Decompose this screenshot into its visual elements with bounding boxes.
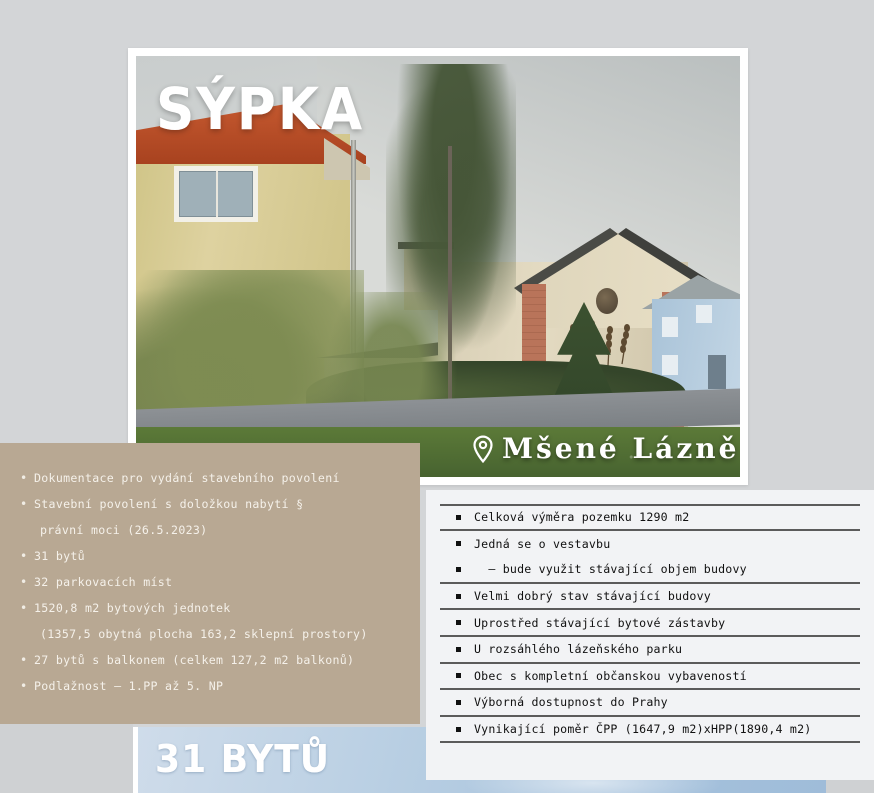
photo-card: SÝPKA Mšené Lázně: [128, 48, 748, 485]
blue-house-door: [708, 355, 726, 389]
feature-item: 31 bytů: [18, 543, 404, 569]
building-photo: SÝPKA Mšené Lázně: [136, 56, 740, 477]
feature-item: 1520,8 m2 bytových jednotek: [18, 595, 404, 621]
page-title: SÝPKA: [156, 80, 364, 138]
spec-item: – bude využit stávající objem budovy: [440, 557, 860, 584]
bottom-left-gutter: [0, 724, 133, 793]
spec-item: Velmi dobrý stav stávající budovy: [440, 584, 860, 611]
feature-item-continuation: (1357,5 obytná plocha 163,2 sklepní pros…: [18, 621, 404, 647]
spec-list: Celková výměra pozemku 1290 m2 Jedná se …: [440, 504, 860, 743]
blue-house-window: [662, 317, 678, 337]
spec-panel: Celková výměra pozemku 1290 m2 Jedná se …: [426, 490, 874, 780]
map-pin-icon: [472, 435, 494, 463]
features-list: Dokumentace pro vydání stavebního povole…: [18, 465, 404, 699]
bottom-right-gutter: [826, 780, 874, 793]
feature-item: Podlažnost – 1.PP až 5. NP: [18, 673, 404, 699]
features-panel: Dokumentace pro vydání stavebního povole…: [0, 443, 420, 724]
feature-item: Stavební povolení s doložkou nabytí §: [18, 491, 404, 517]
spec-item: Jedná se o vestavbu: [440, 531, 860, 558]
feature-item: 27 bytů s balkonem (celkem 127,2 m2 balk…: [18, 647, 404, 673]
spec-item: Celková výměra pozemku 1290 m2: [440, 504, 860, 531]
location-label: Mšené Lázně: [472, 432, 739, 465]
banner-headline: 31 BYTŮ: [155, 737, 330, 781]
round-window: [596, 288, 618, 314]
house-window: [174, 166, 258, 222]
spec-item: U rozsáhlého lázeňského parku: [440, 637, 860, 664]
feature-item: 32 parkovacích míst: [18, 569, 404, 595]
spec-item: Uprostřed stávající bytové zástavby: [440, 610, 860, 637]
spec-item: Obec s kompletní občanskou vybaveností: [440, 664, 860, 691]
blue-house-window: [662, 355, 678, 375]
spec-item: Vynikající poměr ČPP (1647,9 m2)xHPP(189…: [440, 717, 860, 744]
blue-house-window: [696, 305, 712, 323]
feature-item-continuation: právní moci (26.5.2023): [18, 517, 404, 543]
feature-item: Dokumentace pro vydání stavebního povole…: [18, 465, 404, 491]
location-text: Mšené Lázně: [502, 432, 739, 465]
spec-item: Výborná dostupnost do Prahy: [440, 690, 860, 717]
